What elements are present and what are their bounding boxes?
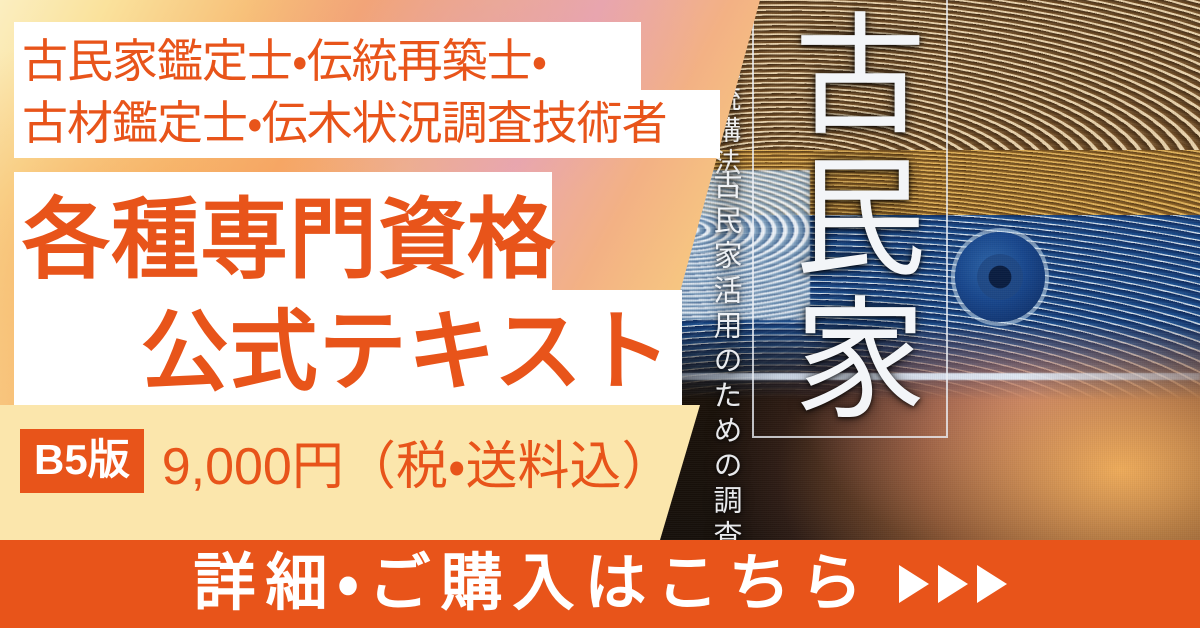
- promo-banner: 古民家 伝統構法、 古民家活用のための調査と再生の 古民家鑑定士・伝統再築士・ …: [0, 0, 1200, 628]
- format-badge: B5版: [20, 429, 144, 493]
- triangle-right-icon: [938, 565, 968, 603]
- qualifications-line-1: 古民家鑑定士・伝統再築士・: [22, 30, 722, 92]
- cta-button-bar[interactable]: 詳細・ご購入はこちら: [0, 540, 1200, 628]
- headline-line-2: 公式テキスト: [22, 296, 682, 408]
- qualifications-line-2: 古材鑑定士・伝木状況調査技術者: [22, 92, 722, 154]
- qualifications-text: 古民家鑑定士・伝統再築士・ 古材鑑定士・伝木状況調査技術者: [22, 30, 722, 154]
- triangle-right-icon: [899, 565, 929, 603]
- price-row: B5版 9,000円（税・送料込）: [20, 430, 674, 492]
- book-cover-title: 古民家: [780, 6, 915, 432]
- headline-line-1: 各種専門資格: [22, 184, 682, 296]
- price-amount: 9,000円（税・送料込）: [162, 424, 674, 499]
- cta-label: 詳細・ご購入はこちら: [193, 553, 872, 615]
- cta-arrows: [899, 565, 1007, 603]
- triangle-right-icon: [977, 565, 1007, 603]
- page-title: 各種専門資格 公式テキスト: [22, 184, 682, 408]
